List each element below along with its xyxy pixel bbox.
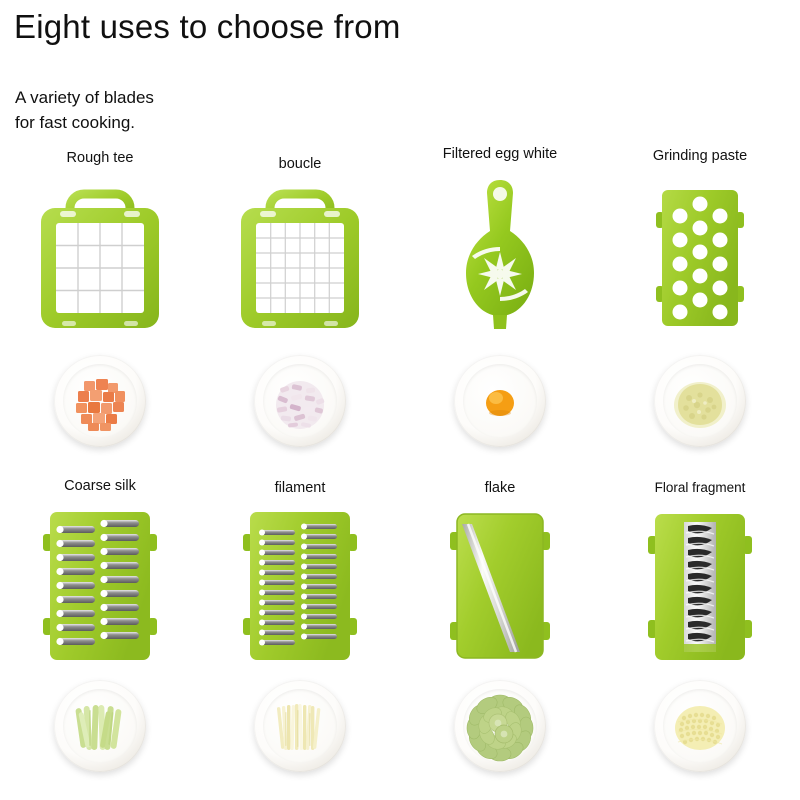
julienne-blade-coarse-icon [37,506,163,666]
page-title: Eight uses to choose from [14,8,401,46]
diced-carrot-food [54,355,146,447]
grid-dicer-fine-icon [236,182,364,334]
use-cell-grinding-paste[interactable]: Grinding paste [600,140,800,470]
use-cell-filament[interactable]: filament [200,470,400,800]
use-label-filament: filament [200,480,400,496]
egg-separator-icon [445,178,555,336]
use-label-flake: flake [400,480,600,496]
subtitle-line-1: A variety of blades [15,85,154,110]
use-label-floral-fragment: Floral fragment [600,480,800,495]
uses-grid: Rough tee [0,140,800,800]
page-subtitle: A variety of blades for fast cooking. [15,85,154,135]
plate-chopped-onion [254,355,346,447]
egg-yolk-food [454,355,546,447]
use-label-grinding-paste: Grinding paste [600,148,800,164]
infographic-page: Eight uses to choose from A variety of b… [0,0,800,800]
use-cell-rough-tee[interactable]: Rough tee [0,140,200,470]
plate-cucumber-strips [54,680,146,772]
ginger-paste-food [654,355,746,447]
use-label-filtered-egg-white: Filtered egg white [400,146,600,162]
plate-diced-carrot [54,355,146,447]
plate-potato-julienne [254,680,346,772]
subtitle-line-2: for fast cooking. [15,110,154,135]
use-cell-floral-fragment[interactable]: Floral fragment [600,470,800,800]
cucumber-slices-food [454,680,546,772]
use-label-coarse-silk: Coarse silk [0,478,200,494]
slicer-blade-flake-icon [442,506,558,666]
plate-waffle-cut-potato [654,680,746,772]
use-cell-flake[interactable]: flake [400,470,600,800]
grid-dicer-coarse-icon [36,182,164,334]
cucumber-strips-food [54,680,146,772]
use-cell-filtered-egg-white[interactable]: Filtered egg white [400,140,600,470]
plate-egg-yolk [454,355,546,447]
use-label-rough-tee: Rough tee [0,150,200,166]
wavy-blade-floral-icon [640,506,760,666]
plate-cucumber-slices [454,680,546,772]
uses-row-2: Coarse silk [0,470,800,800]
use-cell-boucle[interactable]: boucle [200,140,400,470]
potato-julienne-food [254,680,346,772]
julienne-blade-fine-icon [237,506,363,666]
uses-row-1: Rough tee [0,140,800,470]
use-cell-coarse-silk[interactable]: Coarse silk [0,470,200,800]
use-label-boucle: boucle [200,156,400,172]
grater-paste-blade-icon [642,182,758,334]
waffle-cut-potato-food [654,680,746,772]
plate-ginger-paste [654,355,746,447]
chopped-onion-food [254,355,346,447]
